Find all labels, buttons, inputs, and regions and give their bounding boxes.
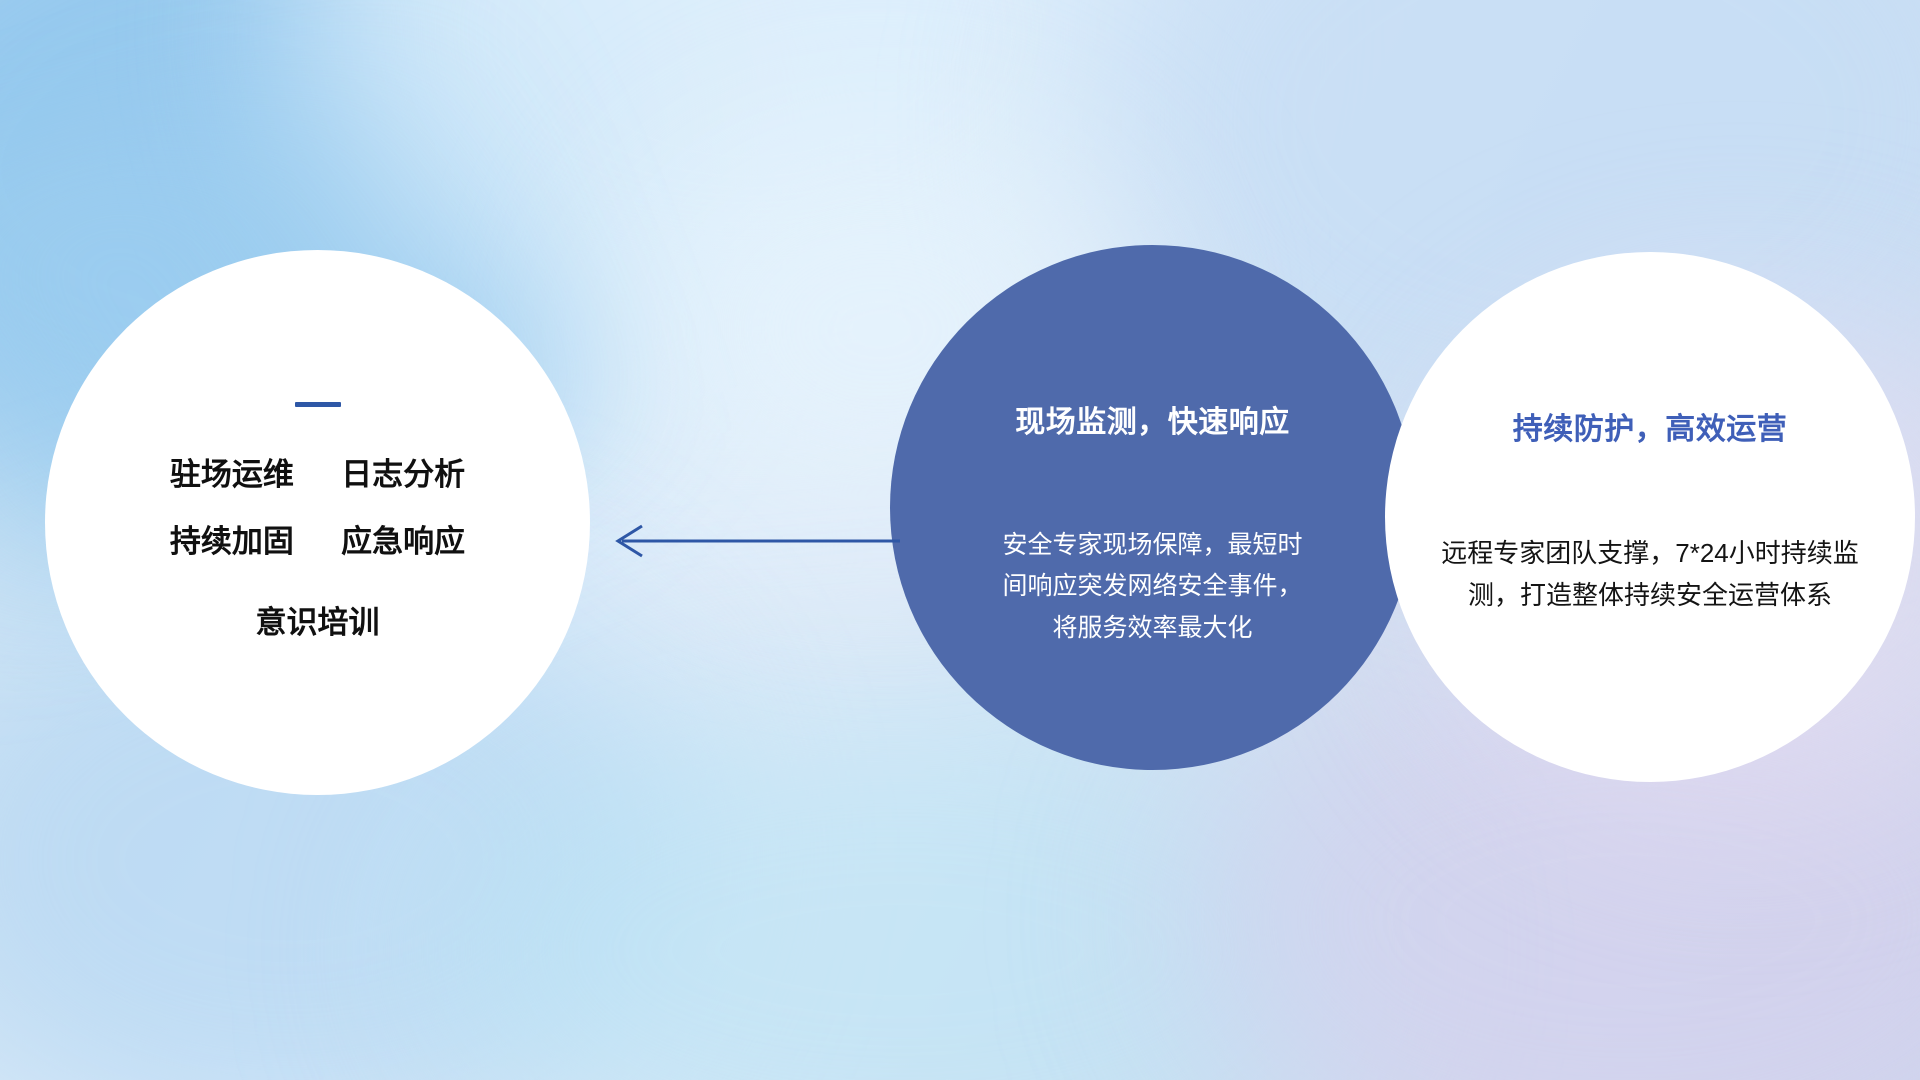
node-title: 现场监测，快速响应: [1015, 397, 1290, 441]
node-continuous-protection[interactable]: 持续防护，高效运营 远程专家团队支撑，7*24小时持续监测，打造整体持续安全运营…: [1385, 252, 1915, 782]
diagram-canvas: 驻场运维 日志分析 持续加固 应急响应 意识培训 现场监测，快速响应 安全专家现…: [0, 0, 1920, 1080]
node-onsite-monitoring[interactable]: 现场监测，快速响应 安全专家现场保障，最短时间响应突发网络安全事件，将服务效率最…: [890, 245, 1415, 770]
list-item: 持续加固 应急响应: [170, 526, 465, 557]
capability-label: 驻场运维: [170, 457, 294, 492]
node-body: 安全专家现场保障，最短时间响应突发网络安全事件，将服务效率最大化: [1003, 525, 1303, 649]
list-item: 意识培训: [170, 607, 465, 638]
capability-list: 驻场运维 日志分析 持续加固 应急响应 意识培训: [170, 459, 465, 638]
capability-label: 持续加固: [170, 524, 294, 559]
left-pointing-arrow-icon: [600, 516, 900, 566]
node-body: 远程专家团队支撑，7*24小时持续监测，打造整体持续安全运营体系: [1440, 532, 1860, 616]
capability-label: 日志分析: [341, 457, 465, 492]
node-title: 持续防护，高效运营: [1513, 404, 1788, 448]
divider-dash-icon: [295, 402, 341, 407]
capability-label: 意识培训: [256, 605, 380, 640]
capability-label: 应急响应: [341, 524, 465, 559]
list-item: 驻场运维 日志分析: [170, 459, 465, 490]
node-capability-list[interactable]: 驻场运维 日志分析 持续加固 应急响应 意识培训: [45, 250, 590, 795]
